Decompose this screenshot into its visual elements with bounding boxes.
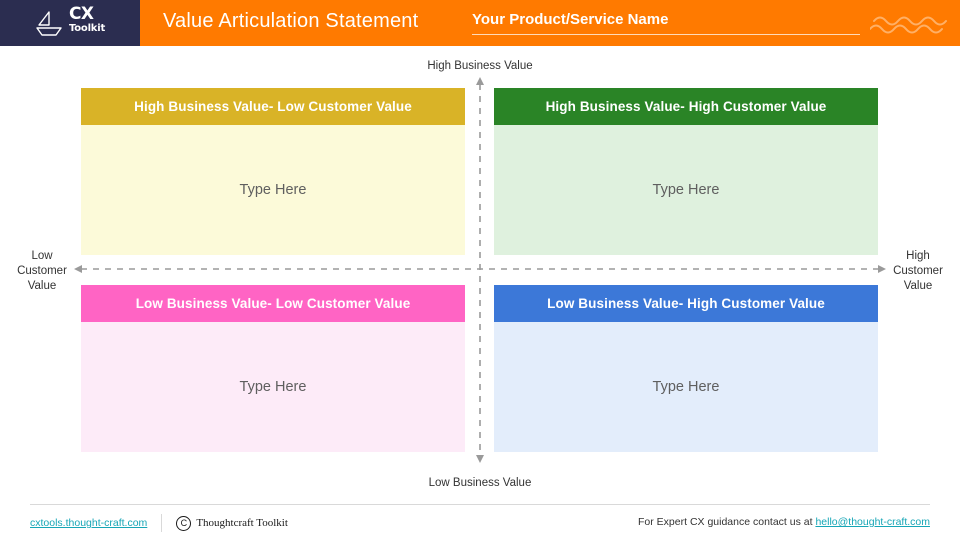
quadrant-placeholder[interactable]: Type Here xyxy=(653,379,720,395)
axis-label-left: Low Customer Value xyxy=(6,249,78,294)
axis-label-top: High Business Value xyxy=(0,59,960,74)
axis-label-right: High Customer Value xyxy=(882,249,954,294)
sailboat-icon xyxy=(35,10,65,41)
app-header: CX Toolkit Value Articulation Statement … xyxy=(0,0,960,46)
footer-email-link[interactable]: hello@thought-craft.com xyxy=(815,516,930,528)
quadrant-header: Low Business Value- High Customer Value xyxy=(494,285,878,322)
footer-website-link[interactable]: cxtools.thought-craft.com xyxy=(30,517,147,529)
brand-logo: CX Toolkit xyxy=(0,0,140,46)
quadrant-body[interactable]: Type Here xyxy=(81,322,465,452)
quadrant-header: High Business Value- High Customer Value xyxy=(494,88,878,125)
product-service-name-value[interactable]: Your Product/Service Name xyxy=(472,11,860,28)
axis-label-bottom: Low Business Value xyxy=(0,476,960,491)
quadrant-high-business-low-customer[interactable]: High Business Value- Low Customer Value … xyxy=(81,88,465,255)
page-title: Value Articulation Statement xyxy=(163,10,418,33)
wave-lines-icon xyxy=(870,12,952,41)
logo-toolkit-text: Toolkit xyxy=(69,24,105,34)
quadrant-body[interactable]: Type Here xyxy=(494,322,878,452)
logo-cx-text: CX xyxy=(69,6,105,23)
quadrant-body[interactable]: Type Here xyxy=(81,125,465,255)
quadrant-low-business-high-customer[interactable]: Low Business Value- High Customer Value … xyxy=(494,285,878,452)
footer-contact: For Expert CX guidance contact us at hel… xyxy=(638,516,930,528)
quadrant-placeholder[interactable]: Type Here xyxy=(240,182,307,198)
quadrant-placeholder[interactable]: Type Here xyxy=(653,182,720,198)
footer-divider xyxy=(161,514,162,532)
footer-contact-text: For Expert CX guidance contact us at xyxy=(638,516,815,528)
quadrant-placeholder[interactable]: Type Here xyxy=(240,379,307,395)
copyright-icon: C xyxy=(176,516,191,531)
footer-copyright-text: Thoughtcraft Toolkit xyxy=(196,517,288,529)
value-matrix: High Business Value Low Business Value L… xyxy=(0,46,960,494)
footer-copyright: C Thoughtcraft Toolkit xyxy=(176,516,288,531)
quadrant-low-business-low-customer[interactable]: Low Business Value- Low Customer Value T… xyxy=(81,285,465,452)
quadrant-high-business-high-customer[interactable]: High Business Value- High Customer Value… xyxy=(494,88,878,255)
quadrant-body[interactable]: Type Here xyxy=(494,125,878,255)
horizontal-dashed-axis-icon xyxy=(74,261,886,282)
quadrant-header: Low Business Value- Low Customer Value xyxy=(81,285,465,322)
page-footer: cxtools.thought-craft.com C Thoughtcraft… xyxy=(30,504,930,541)
product-service-name-input[interactable]: Your Product/Service Name xyxy=(472,11,860,35)
quadrant-header: High Business Value- Low Customer Value xyxy=(81,88,465,125)
